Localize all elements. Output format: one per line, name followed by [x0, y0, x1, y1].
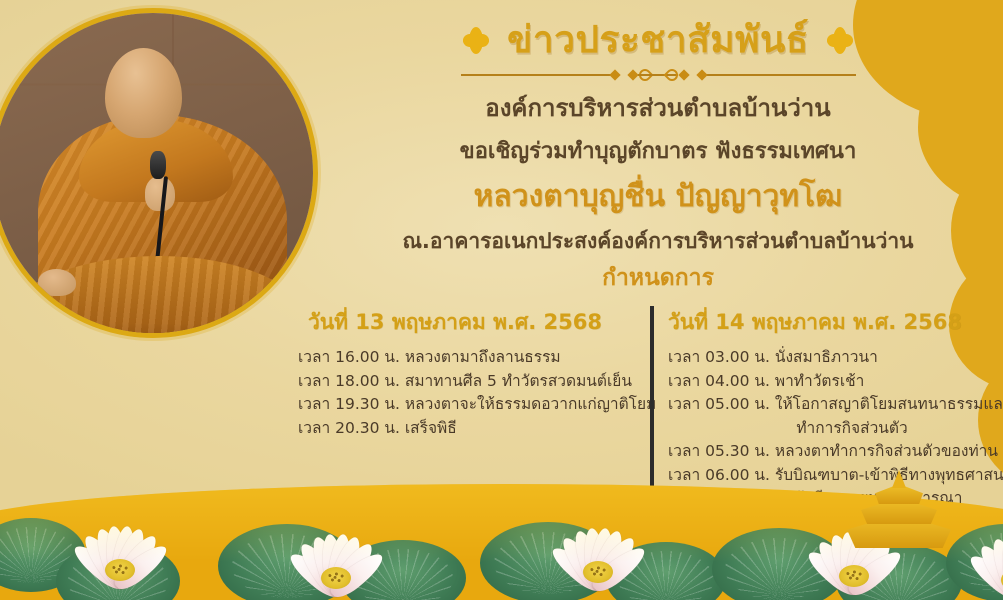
list-item: เวลา 18.00 น. สมาทานศีล 5 ทำวัตรสวดมนต์เ…: [298, 370, 628, 394]
page-title: ข่าวประชาสัมพันธ์: [507, 18, 809, 62]
microphone-icon: [150, 151, 166, 180]
ornamental-divider: [461, 67, 856, 83]
agenda-label: กำหนดการ: [328, 265, 988, 293]
list-item: เวลา 05.00 น. ให้โอกาสญาติโยมสนทนาธรรมแล…: [668, 393, 998, 417]
divider-diamond: [696, 69, 707, 80]
divider-diamond: [609, 69, 620, 80]
list-item-continuation: ทำการกิจส่วนตัว: [668, 417, 998, 441]
list-item: เวลา 19.30 น. หลวงตาจะให้ธรรมดอวากแก่ญาต…: [298, 393, 628, 417]
list-item: เวลา 03.00 น. นั่งสมาธิภาวนา: [668, 346, 998, 370]
poster-canvas: ข่าวประชาสัมพันธ์ องค์การบริหารส่วนตำบลบ…: [0, 0, 1003, 600]
quatrefoil-icon: [825, 25, 855, 55]
lotus-flower: [64, 508, 176, 594]
monk-name: หลวงตาบุญชื่น ปัญญาวุทโฒ: [328, 178, 988, 216]
list-item: เวลา 04.00 น. พาทำวัตรเช้า: [668, 370, 998, 394]
lotus-leaf: [836, 544, 962, 600]
divider-diamond: [627, 69, 638, 80]
schedule-date-day2: วันที่ 14 พฤษภาคม พ.ศ. 2568: [668, 306, 998, 339]
list-item: เวลา 16.00 น. หลวงตามาถึงลานธรรม: [298, 346, 628, 370]
lotus-leaf: [480, 522, 616, 600]
lotus-leaf: [56, 542, 180, 600]
list-item: เวลา 20.30 น. เสร็จพิธี: [298, 417, 628, 441]
lotus-leaf: [712, 528, 846, 600]
lotus-leaf: [218, 524, 356, 600]
schedule-date-day1: วันที่ 13 พฤษภาคม พ.ศ. 2568: [298, 306, 628, 339]
head-shape: [105, 48, 182, 138]
quatrefoil-icon: [461, 25, 491, 55]
monk-portrait: [0, 8, 318, 338]
schedule-list-day1: เวลา 16.00 น. หลวงตามาถึงลานธรรม เวลา 18…: [298, 346, 628, 440]
hand-resting-shape: [38, 269, 76, 296]
divider-diamond: [678, 69, 689, 80]
lotus-flower: [960, 518, 1003, 600]
divider-bar-left: [461, 74, 613, 76]
pagoda-roof-icon: [847, 478, 951, 548]
headline-row: ข่าวประชาสัมพันธ์: [328, 18, 988, 62]
portrait-image: [0, 13, 313, 333]
lotus-leaf: [606, 542, 726, 600]
title-block: ข่าวประชาสัมพันธ์ องค์การบริหารส่วนตำบลบ…: [328, 18, 988, 293]
column-divider: [650, 306, 654, 511]
venue-line: ณ.อาคารอเนกประสงค์องค์การบริหารส่วนตำบลบ…: [328, 228, 988, 255]
list-item: เวลา 05.30 น. หลวงตาทำการกิจส่วนตัวของท่…: [668, 440, 998, 464]
organization-name: องค์การบริหารส่วนตำบลบ้านว่าน: [328, 93, 988, 124]
lotus-leaf: [340, 540, 466, 600]
pagoda-spire: [892, 470, 906, 488]
lotus-flower: [280, 516, 392, 600]
lotus-flower: [542, 510, 654, 596]
invitation-line: ขอเชิญร่วมทำบุญตักบาตร ฟังธรรมเทศนา: [328, 138, 988, 167]
divider-bar-right: [704, 74, 856, 76]
lotus-leaf: [946, 524, 1003, 600]
lotus-leaf: [0, 518, 86, 592]
